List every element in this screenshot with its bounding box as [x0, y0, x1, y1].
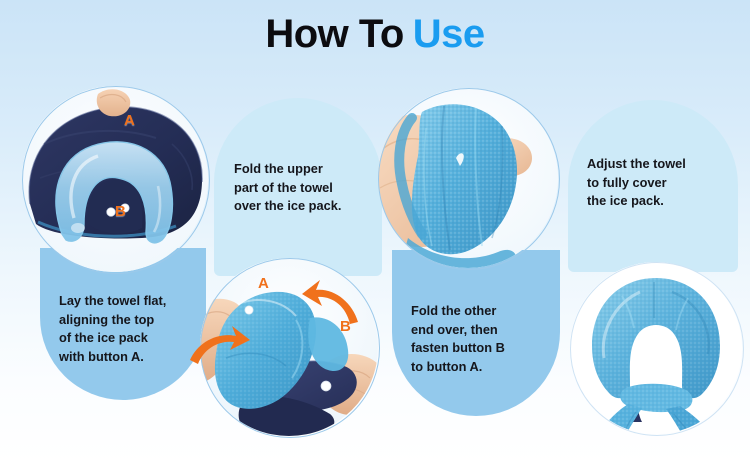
photo-hand-holding-folded-towel — [378, 88, 558, 268]
arrow-fold-right-icon — [300, 278, 360, 326]
infographic-stage: How ToUse Lay the towel flat, aligning t… — [0, 0, 750, 464]
button-label-a-step1: A — [124, 112, 135, 129]
step-3-text: Fold the other end over, then fasten but… — [411, 302, 560, 376]
arrow-fold-left-icon — [188, 320, 252, 368]
photo-towel-flat-with-ice-pack — [22, 86, 208, 272]
step-1-text: Lay the towel flat, aligning the top of … — [59, 292, 206, 366]
step-4-text: Adjust the towel to fully cover the ice … — [587, 155, 738, 211]
button-label-b-step1: B — [115, 203, 126, 220]
step-4-text-panel: Adjust the towel to fully cover the ice … — [568, 100, 738, 272]
title-blue-part: Use — [413, 12, 485, 56]
step-3-text-panel: Fold the other end over, then fasten but… — [392, 250, 560, 416]
photo-finished-neck-wrap — [570, 262, 742, 434]
step-2-text-panel: Fold the upper part of the towel over th… — [214, 98, 382, 276]
button-label-a-step2: A — [258, 275, 269, 292]
step-2-text: Fold the upper part of the towel over th… — [234, 160, 382, 216]
title-black-part: How To — [265, 12, 403, 56]
page-title: How ToUse — [0, 14, 750, 54]
